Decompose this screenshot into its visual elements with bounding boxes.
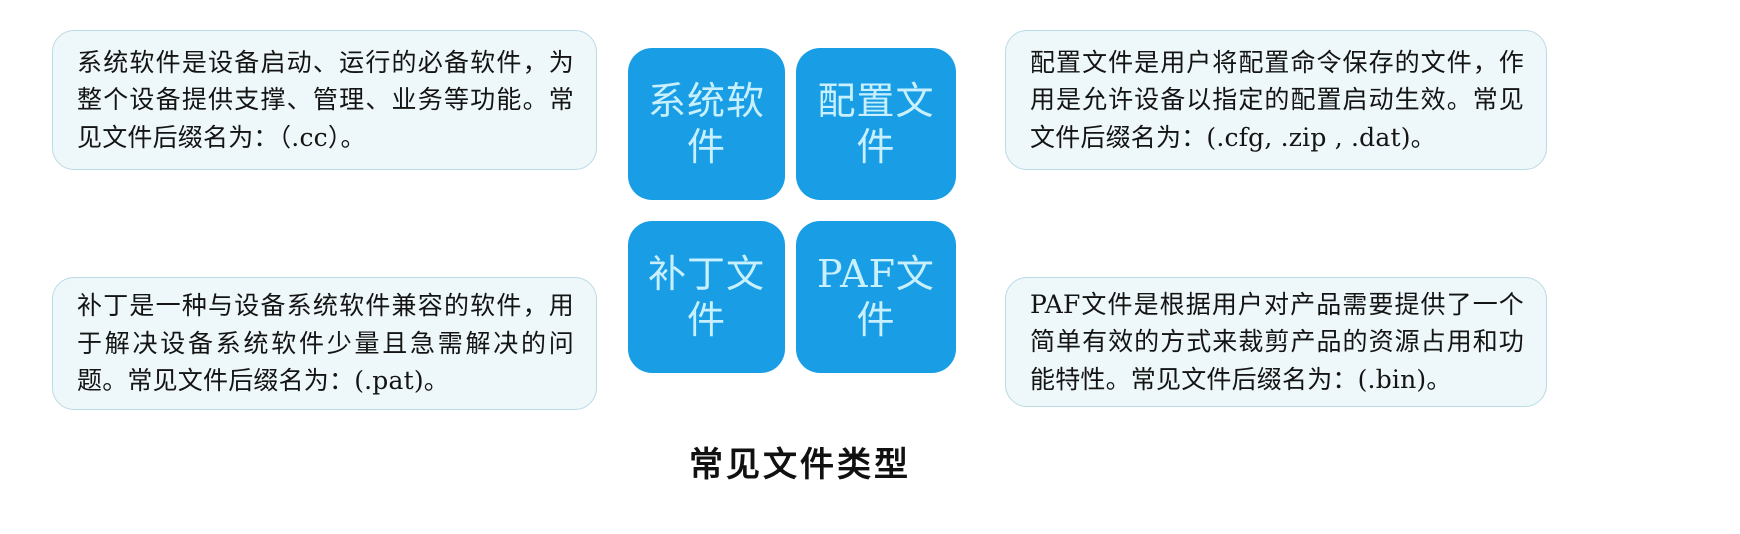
callout-patch-file-text: 补丁是一种与设备系统软件兼容的软件，用于解决设备系统软件少量且急需解决的问题。常… [77, 287, 574, 400]
diagram-canvas: 系统软件是设备启动、运行的必备软件，为整个设备提供支撑、管理、业务等功能。常见文… [0, 0, 1740, 534]
callout-patch-file: 补丁是一种与设备系统软件兼容的软件，用于解决设备系统软件少量且急需解决的问题。常… [52, 277, 597, 410]
tile-patch-file[interactable]: 补丁文件 [628, 221, 785, 373]
callout-system-software-text: 系统软件是设备启动、运行的必备软件，为整个设备提供支撑、管理、业务等功能。常见文… [77, 44, 574, 157]
tile-config-file-label: 配置文件 [796, 78, 956, 171]
callout-config-file-text: 配置文件是用户将配置命令保存的文件，作用是允许设备以指定的配置启动生效。常见文件… [1030, 44, 1524, 157]
tile-system-software[interactable]: 系统软件 [628, 48, 785, 200]
callout-config-file: 配置文件是用户将配置命令保存的文件，作用是允许设备以指定的配置启动生效。常见文件… [1005, 30, 1547, 170]
callout-paf-file: PAF文件是根据用户对产品需要提供了一个简单有效的方式来裁剪产品的资源占用和功能… [1005, 277, 1547, 407]
tile-patch-file-label: 补丁文件 [628, 251, 785, 344]
tile-config-file[interactable]: 配置文件 [796, 48, 956, 200]
diagram-title: 常见文件类型 [0, 437, 1600, 486]
tile-paf-file-label: PAF文件 [796, 251, 956, 344]
tile-system-software-label: 系统软件 [628, 78, 785, 171]
callout-paf-file-text: PAF文件是根据用户对产品需要提供了一个简单有效的方式来裁剪产品的资源占用和功能… [1030, 286, 1524, 399]
tile-paf-file[interactable]: PAF文件 [796, 221, 956, 373]
callout-system-software: 系统软件是设备启动、运行的必备软件，为整个设备提供支撑、管理、业务等功能。常见文… [52, 30, 597, 170]
